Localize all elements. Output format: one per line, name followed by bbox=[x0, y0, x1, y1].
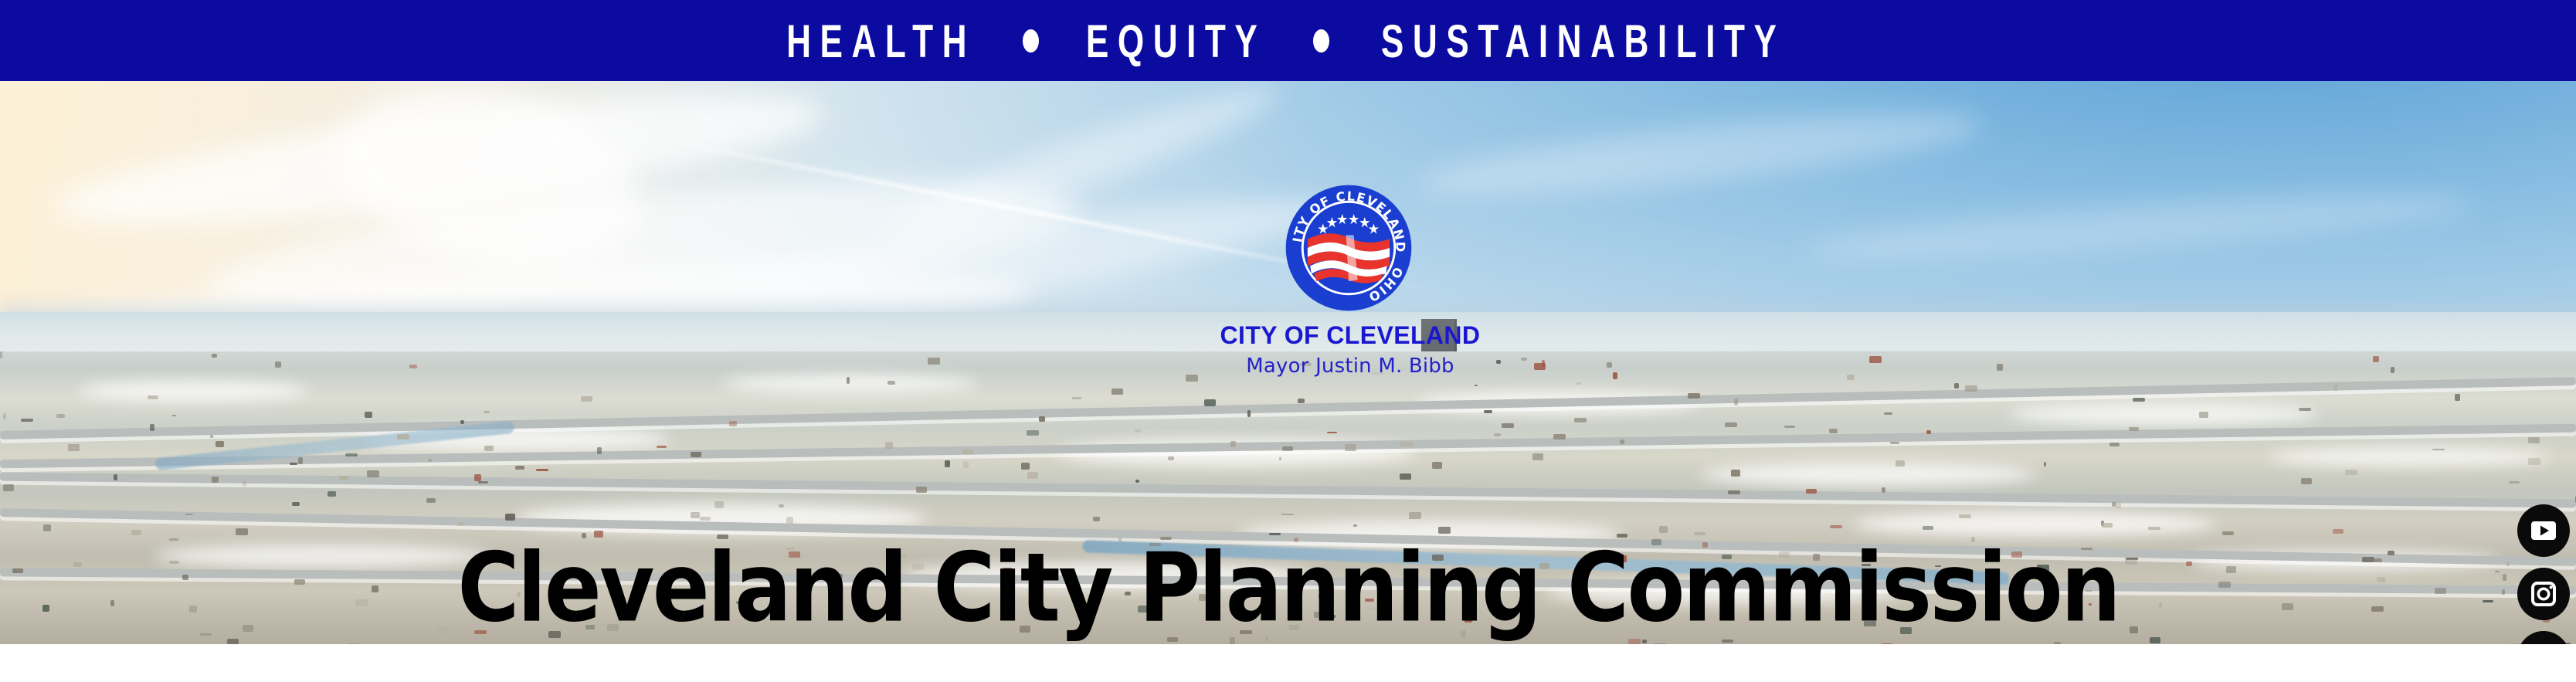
rooftop bbox=[1971, 537, 1975, 542]
rooftop bbox=[2509, 481, 2520, 484]
rooftop bbox=[1298, 399, 1304, 403]
snow-patch bbox=[77, 381, 309, 402]
rooftop bbox=[43, 524, 52, 531]
rooftop bbox=[1553, 434, 1566, 439]
rooftop bbox=[505, 514, 515, 521]
rooftop bbox=[1269, 533, 1281, 535]
rooftop bbox=[945, 460, 950, 467]
rooftop bbox=[1734, 399, 1738, 405]
footer-white-strip bbox=[0, 644, 2576, 682]
rooftop bbox=[1728, 490, 1740, 494]
rooftop bbox=[1484, 410, 1492, 413]
rooftop bbox=[478, 481, 488, 484]
rooftop bbox=[68, 444, 80, 451]
rooftop bbox=[2528, 437, 2540, 444]
rooftop bbox=[275, 361, 281, 367]
rooftop bbox=[581, 396, 593, 402]
rooftop bbox=[1620, 439, 1624, 444]
rooftop bbox=[548, 631, 561, 638]
rooftop bbox=[355, 599, 368, 606]
rooftop bbox=[1353, 524, 1357, 527]
rooftop bbox=[1112, 389, 1123, 395]
rooftop bbox=[2100, 574, 2103, 580]
rooftop bbox=[1806, 489, 1817, 493]
rooftop bbox=[2148, 527, 2160, 530]
rooftop bbox=[1230, 441, 1236, 448]
rooftop bbox=[1149, 543, 1162, 546]
rooftop bbox=[2159, 602, 2162, 607]
rooftop bbox=[2362, 557, 2374, 562]
rooftop bbox=[582, 533, 586, 538]
rooftop bbox=[0, 351, 2, 358]
rooftop bbox=[1884, 412, 1892, 415]
rooftop bbox=[2199, 412, 2208, 418]
rooftop bbox=[912, 564, 924, 571]
brand-mayor-name: Mayor Justin M. Bibb bbox=[1246, 355, 1454, 378]
rooftop bbox=[2081, 548, 2092, 551]
rooftop bbox=[236, 528, 248, 535]
rooftop bbox=[212, 477, 219, 482]
rooftop bbox=[1003, 568, 1012, 575]
rooftop bbox=[885, 442, 892, 448]
rooftop bbox=[1659, 526, 1668, 533]
rooftop bbox=[1167, 637, 1178, 642]
rooftop bbox=[294, 579, 304, 585]
rooftop bbox=[1039, 416, 1044, 422]
rooftop bbox=[2432, 449, 2445, 450]
rooftop bbox=[517, 592, 521, 597]
tagline-word-equity: EQUITY bbox=[1086, 13, 1267, 68]
rooftop bbox=[1607, 362, 1612, 368]
rooftop bbox=[1240, 630, 1252, 633]
highway bbox=[0, 473, 2576, 508]
rooftop bbox=[1896, 460, 1904, 467]
rooftop bbox=[189, 606, 197, 612]
rooftop bbox=[585, 625, 594, 629]
rooftop bbox=[1282, 446, 1294, 452]
rooftop bbox=[1400, 473, 1412, 480]
rooftop bbox=[372, 585, 379, 592]
rooftop bbox=[657, 446, 667, 448]
rooftop bbox=[2333, 385, 2338, 391]
rooftop bbox=[2112, 502, 2116, 507]
rooftop bbox=[200, 633, 212, 636]
rooftop bbox=[716, 575, 725, 582]
rooftop bbox=[210, 435, 213, 438]
city-brand-block: CITY OF CLEVELAND OHIO CITY OF CLEVELAND… bbox=[1219, 184, 1481, 378]
rooftop bbox=[2371, 606, 2384, 612]
rooftop bbox=[2374, 558, 2382, 563]
rooftop bbox=[1722, 640, 1733, 643]
rooftop bbox=[1072, 397, 1081, 399]
tagline-word-health: HEALTH bbox=[786, 13, 976, 68]
rooftop bbox=[700, 517, 711, 521]
rooftop bbox=[1247, 410, 1251, 417]
rooftop bbox=[1539, 563, 1549, 570]
rooftop bbox=[1345, 444, 1356, 451]
rooftop bbox=[1327, 432, 1337, 433]
rooftop bbox=[1204, 399, 1216, 406]
rooftop bbox=[1168, 456, 1173, 460]
rooftop bbox=[2125, 559, 2137, 565]
rooftop bbox=[243, 481, 246, 486]
rooftop bbox=[1494, 433, 1501, 436]
rooftop bbox=[1135, 480, 1139, 483]
rooftop bbox=[1199, 594, 1207, 601]
brand-city-name: CITY OF CLEVELAND bbox=[1220, 321, 1481, 350]
rooftop bbox=[2186, 562, 2192, 567]
rooftop bbox=[2506, 562, 2509, 566]
rooftop bbox=[2130, 626, 2138, 633]
rooftop bbox=[1265, 636, 1268, 641]
rooftop bbox=[2086, 590, 2092, 592]
rooftop bbox=[12, 568, 23, 573]
city-seal-icon: CITY OF CLEVELAND OHIO bbox=[1285, 184, 1413, 312]
rooftop bbox=[1021, 463, 1030, 470]
rooftop bbox=[2021, 572, 2033, 577]
rooftop bbox=[691, 452, 701, 457]
rooftop bbox=[1750, 601, 1762, 606]
rooftop bbox=[736, 601, 747, 604]
rooftop bbox=[515, 466, 524, 470]
rooftop bbox=[1617, 534, 1627, 538]
rooftop bbox=[1617, 555, 1627, 562]
rooftop bbox=[2218, 582, 2231, 588]
rooftop bbox=[607, 624, 619, 631]
rooftop bbox=[2037, 565, 2049, 572]
rooftop bbox=[1900, 627, 1912, 634]
rooftop bbox=[1694, 532, 1705, 535]
rooftop bbox=[1230, 608, 1238, 613]
rooftop bbox=[1160, 537, 1172, 541]
rooftop bbox=[786, 548, 794, 551]
rooftop bbox=[1176, 551, 1180, 557]
rooftop bbox=[290, 463, 297, 465]
rooftop bbox=[292, 502, 300, 506]
rooftop bbox=[216, 441, 224, 447]
rooftop bbox=[1574, 418, 1587, 422]
rooftop bbox=[1784, 426, 1795, 428]
rooftop bbox=[2150, 637, 2160, 643]
rooftop bbox=[2044, 462, 2047, 467]
rooftop bbox=[243, 625, 253, 632]
rooftop bbox=[185, 514, 193, 515]
rooftop bbox=[1365, 599, 1374, 602]
rooftop bbox=[1731, 470, 1741, 476]
foreground-city bbox=[0, 351, 2576, 644]
rooftop bbox=[1830, 525, 1842, 528]
rooftop bbox=[182, 575, 188, 580]
snow-patch bbox=[2009, 404, 2318, 425]
rooftop bbox=[227, 639, 239, 644]
rooftop bbox=[1365, 609, 1376, 610]
rooftop bbox=[3, 484, 13, 491]
rooftop bbox=[2102, 523, 2113, 528]
rooftop bbox=[298, 457, 303, 464]
rooftop bbox=[339, 476, 348, 480]
rooftop bbox=[1890, 442, 1899, 444]
rooftop bbox=[1688, 393, 1700, 399]
rooftop bbox=[1027, 430, 1039, 436]
rooftop bbox=[484, 411, 490, 413]
rooftop bbox=[928, 358, 940, 365]
rooftop bbox=[898, 555, 906, 558]
rooftop bbox=[1722, 555, 1732, 559]
rooftop bbox=[2222, 531, 2234, 535]
rooftop bbox=[786, 517, 793, 524]
rooftop bbox=[1847, 375, 1855, 381]
rooftop bbox=[345, 453, 358, 456]
rooftop bbox=[474, 474, 480, 480]
rooftop bbox=[2226, 566, 2236, 573]
rooftop bbox=[1959, 514, 1971, 518]
rooftop bbox=[1438, 527, 1451, 534]
rooftop bbox=[2129, 427, 2139, 431]
rooftop bbox=[367, 470, 379, 477]
rooftop bbox=[831, 574, 843, 579]
rooftop bbox=[1502, 423, 1514, 428]
rooftop bbox=[1779, 551, 1790, 557]
rooftop bbox=[1135, 429, 1141, 433]
rooftop bbox=[1409, 512, 1421, 519]
rooftop bbox=[365, 412, 372, 418]
rooftop bbox=[2503, 574, 2506, 581]
rooftop bbox=[2388, 551, 2394, 555]
rooftop bbox=[1400, 442, 1413, 446]
rooftop bbox=[2011, 551, 2021, 558]
rooftop bbox=[1125, 592, 1131, 595]
rooftop bbox=[1576, 382, 1581, 385]
rooftop bbox=[1432, 555, 1444, 561]
rooftop bbox=[1532, 453, 1543, 460]
rooftop bbox=[328, 491, 336, 497]
rooftop bbox=[2435, 588, 2446, 594]
rooftop bbox=[1862, 564, 1871, 565]
youtube-icon[interactable] bbox=[2517, 504, 2570, 557]
rooftop bbox=[2333, 529, 2344, 534]
rooftop bbox=[2299, 408, 2311, 411]
rooftop bbox=[1642, 640, 1647, 643]
rooftop bbox=[2373, 356, 2379, 362]
rooftop bbox=[457, 522, 464, 526]
rooftop bbox=[1864, 621, 1876, 626]
rooftop bbox=[1651, 539, 1661, 545]
rooftop bbox=[1324, 615, 1336, 618]
tagline-word-sustainability: SUSTAINABILITY bbox=[1381, 13, 1786, 68]
rooftop bbox=[1186, 375, 1197, 382]
rooftop bbox=[1542, 360, 1545, 366]
snow-patch bbox=[2267, 448, 2551, 466]
rooftop bbox=[2502, 589, 2505, 595]
tagline-separator-dot-1 bbox=[1023, 29, 1039, 53]
instagram-icon[interactable] bbox=[2517, 568, 2570, 620]
rooftop bbox=[1997, 364, 2003, 371]
snow-patch bbox=[721, 375, 979, 392]
rooftop bbox=[2528, 458, 2540, 465]
rooftop bbox=[56, 414, 65, 418]
rooftop bbox=[1294, 538, 1298, 542]
rooftop bbox=[1613, 372, 1617, 379]
rooftop bbox=[779, 504, 785, 507]
rooftop bbox=[1281, 514, 1294, 515]
rooftop bbox=[2089, 603, 2092, 606]
rooftop bbox=[1461, 630, 1466, 637]
rooftop bbox=[789, 551, 800, 557]
rooftop bbox=[1813, 554, 1820, 561]
rooftop bbox=[2133, 398, 2145, 402]
social-links bbox=[2517, 504, 2570, 644]
rooftop bbox=[437, 626, 448, 633]
rooftop bbox=[597, 447, 602, 454]
rooftop bbox=[21, 419, 32, 422]
page-root: HEALTH EQUITY SUSTAINABILITY bbox=[0, 0, 2576, 682]
rooftop bbox=[1522, 629, 1526, 636]
rooftop bbox=[1464, 619, 1472, 623]
rooftop bbox=[1093, 517, 1100, 521]
rooftop bbox=[1475, 385, 1478, 387]
rooftop bbox=[1230, 637, 1235, 644]
rooftop bbox=[1926, 430, 1931, 433]
rooftop bbox=[2345, 470, 2357, 476]
rooftop bbox=[1077, 594, 1083, 601]
rooftop bbox=[212, 354, 218, 358]
rooftop bbox=[131, 530, 141, 534]
rooftop bbox=[1829, 429, 1837, 434]
rooftop bbox=[1319, 594, 1329, 599]
rooftop bbox=[729, 421, 737, 426]
rooftop bbox=[397, 434, 409, 440]
rooftop bbox=[594, 531, 603, 538]
hero-photo: CITY OF CLEVELAND OHIO CITY OF CLEVELAND… bbox=[0, 81, 2576, 644]
rooftop bbox=[1923, 526, 1933, 530]
rooftop bbox=[2301, 478, 2312, 484]
rooftop bbox=[2495, 571, 2500, 573]
rooftop bbox=[962, 450, 972, 454]
rooftop bbox=[714, 501, 723, 508]
rooftop bbox=[888, 381, 895, 385]
rooftop bbox=[150, 424, 155, 431]
rooftop bbox=[1432, 462, 1442, 469]
rooftop bbox=[1725, 422, 1737, 427]
rooftop bbox=[2483, 600, 2493, 602]
rooftop bbox=[1628, 639, 1641, 644]
rooftop bbox=[1138, 606, 1149, 612]
rooftop bbox=[1314, 612, 1325, 618]
rooftop bbox=[3, 413, 7, 420]
rooftop bbox=[1289, 625, 1299, 631]
rooftop bbox=[691, 512, 700, 519]
rooftop bbox=[148, 395, 159, 399]
rooftop bbox=[1020, 626, 1030, 633]
rooftop bbox=[484, 446, 494, 451]
rooftop bbox=[1702, 542, 1708, 547]
rooftop bbox=[169, 561, 179, 564]
rooftop bbox=[2109, 443, 2120, 446]
rooftop bbox=[1954, 383, 1960, 389]
rooftop bbox=[2455, 394, 2460, 400]
rooftop bbox=[1869, 356, 1882, 363]
rooftop bbox=[114, 474, 117, 480]
rooftop bbox=[963, 461, 969, 468]
rooftop bbox=[916, 487, 927, 493]
rooftop bbox=[1496, 360, 1502, 364]
rooftop bbox=[426, 498, 436, 503]
rooftop bbox=[1521, 358, 1527, 361]
snow-patch bbox=[154, 545, 490, 568]
rooftop bbox=[1027, 472, 1038, 479]
rooftop bbox=[172, 415, 176, 416]
rooftop bbox=[847, 377, 850, 383]
tagline-bar: HEALTH EQUITY SUSTAINABILITY bbox=[0, 0, 2576, 81]
rooftop bbox=[42, 605, 49, 612]
rooftop bbox=[169, 538, 178, 541]
rooftop bbox=[1965, 385, 1977, 392]
rooftop bbox=[474, 630, 487, 634]
rooftop bbox=[1882, 487, 1886, 493]
rooftop bbox=[717, 534, 728, 539]
rooftop bbox=[2282, 603, 2294, 610]
tagline-separator-dot-2 bbox=[1313, 29, 1329, 53]
rooftop bbox=[110, 600, 114, 607]
rooftop bbox=[2051, 588, 2053, 595]
rooftop bbox=[73, 562, 82, 567]
rooftop bbox=[2377, 577, 2385, 582]
facebook-icon[interactable] bbox=[2517, 631, 2570, 644]
rooftop bbox=[1935, 565, 1941, 567]
snow-patch bbox=[1855, 512, 2215, 535]
rooftop bbox=[1899, 612, 1912, 619]
rooftop bbox=[536, 469, 548, 471]
rooftop bbox=[409, 365, 417, 368]
rooftop bbox=[2391, 367, 2395, 373]
snow-patch bbox=[1700, 463, 2035, 486]
rooftop bbox=[2115, 501, 2121, 508]
